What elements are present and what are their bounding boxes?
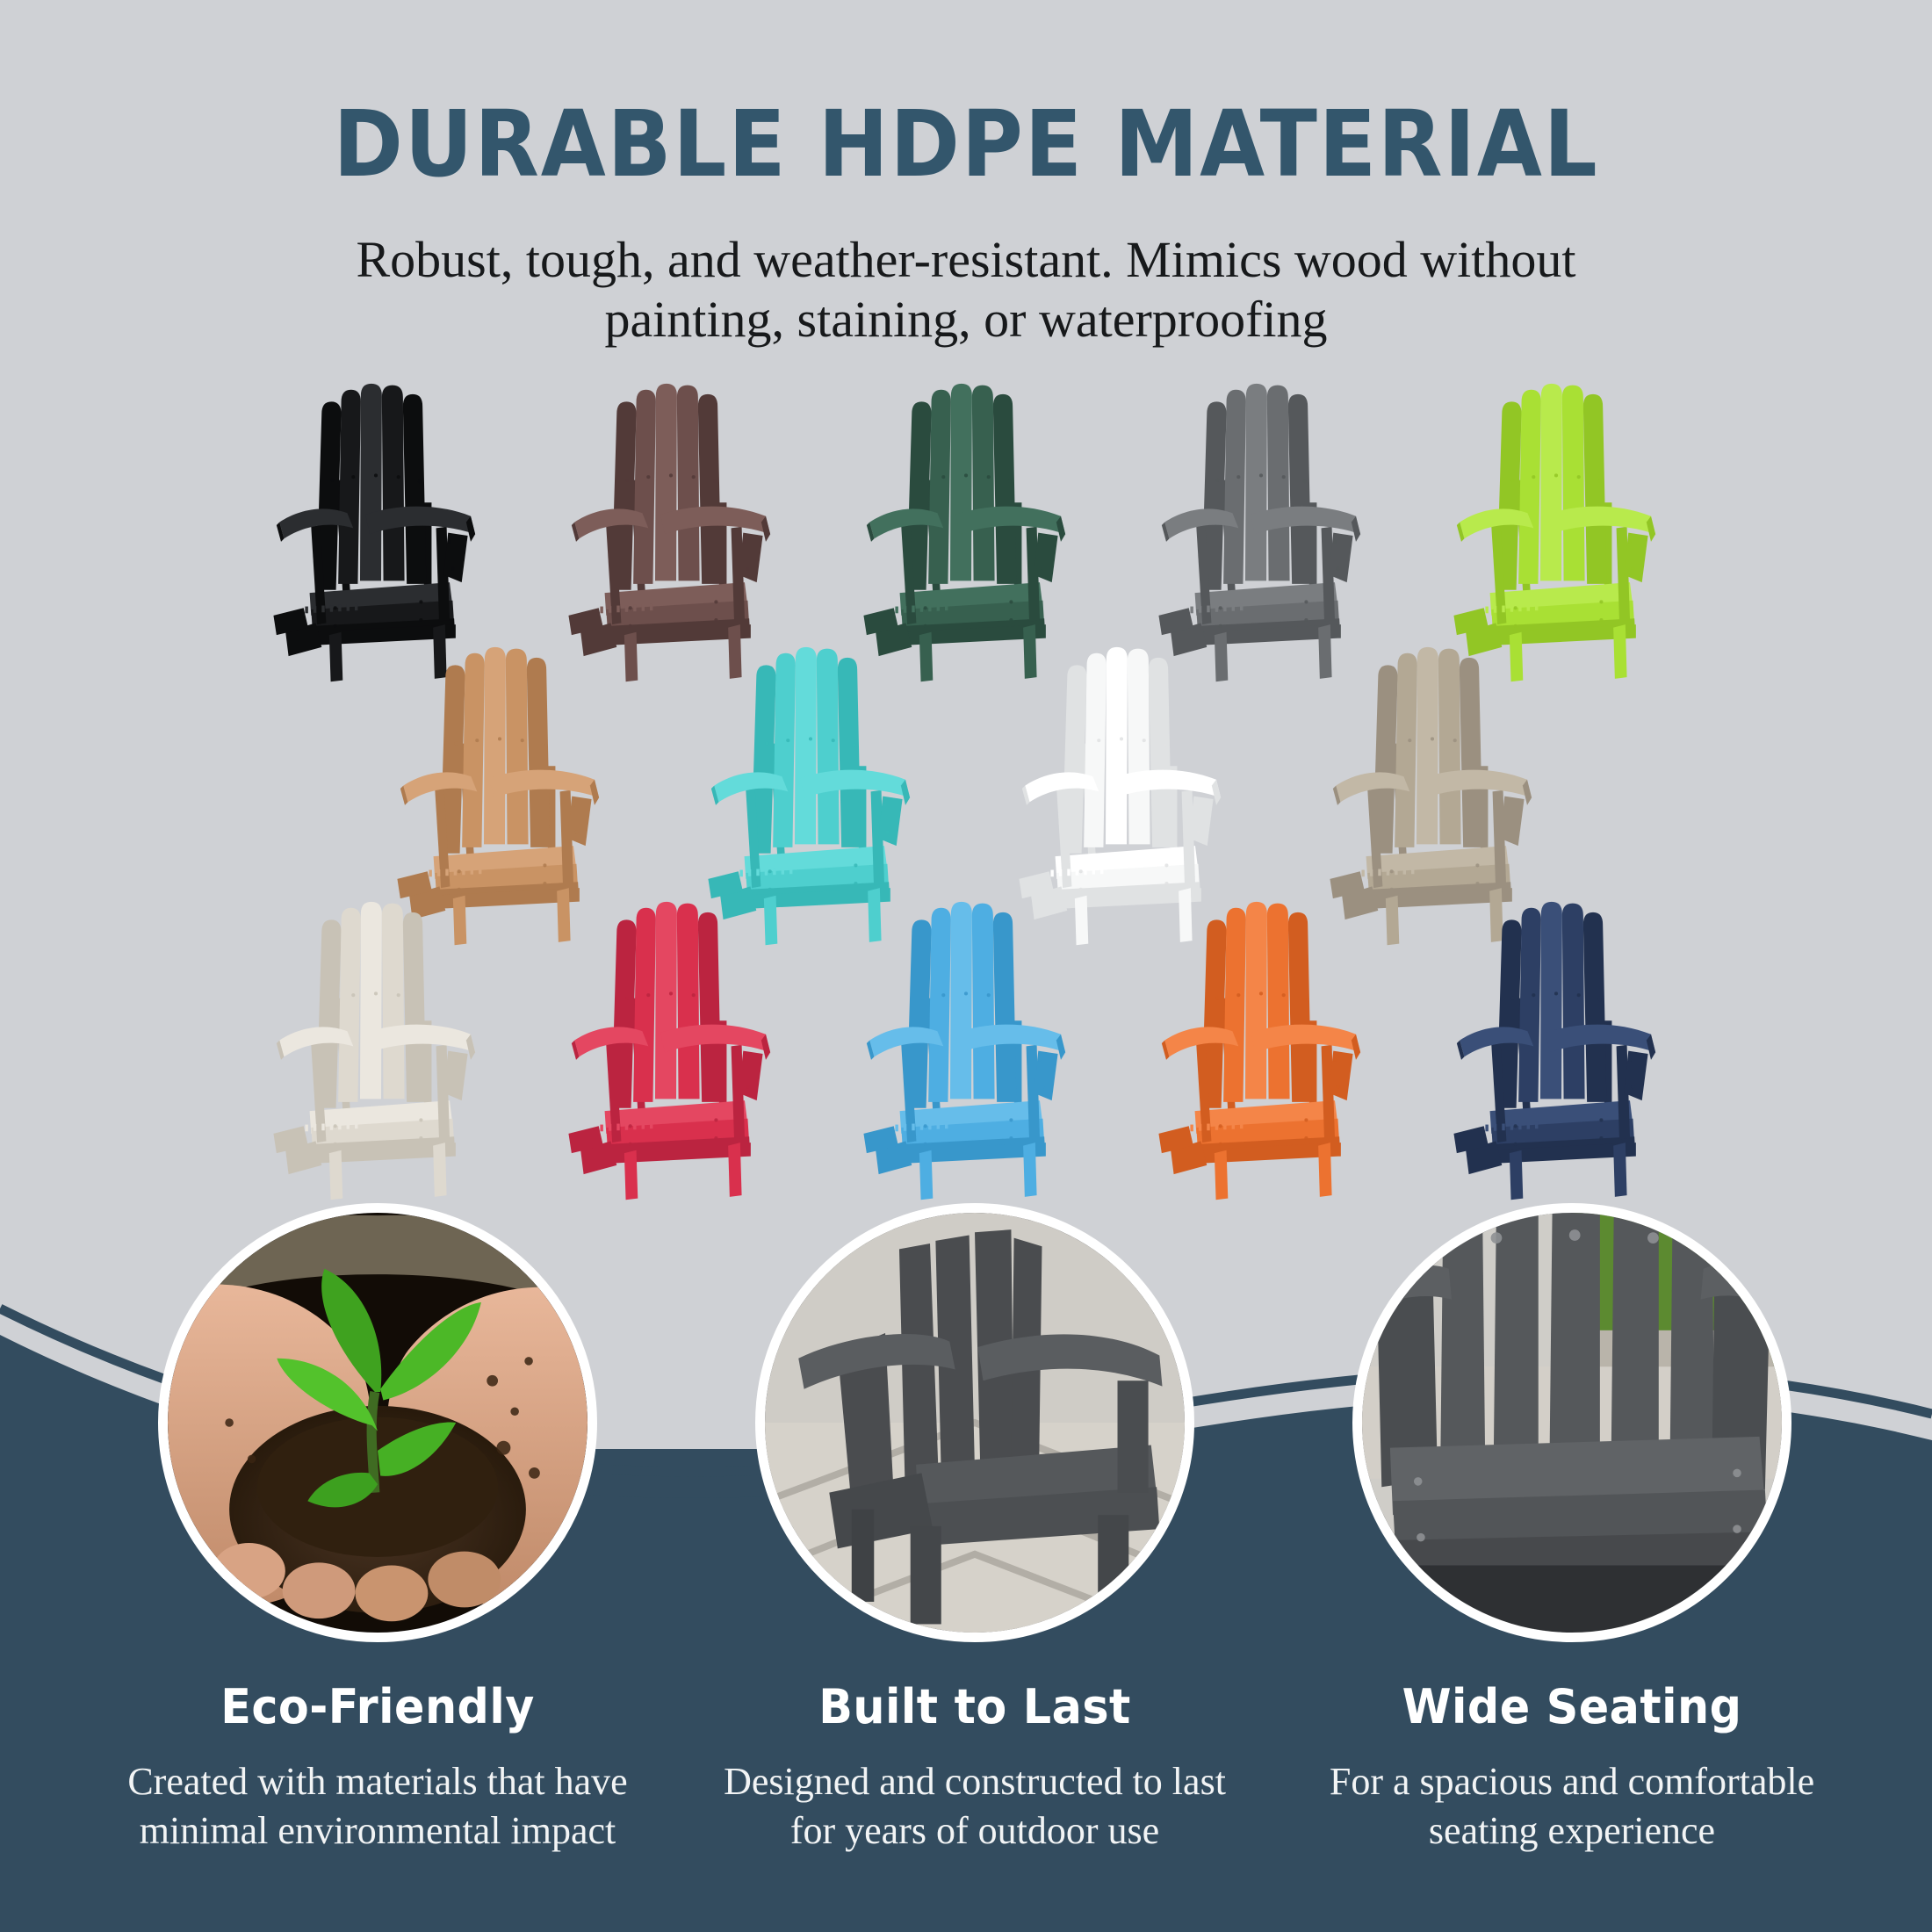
gray-adirondack-chair-on-patio-icon [765, 1213, 1185, 1633]
chair-color-grid [0, 367, 1932, 1245]
seat-closeup-photo-icon [1362, 1213, 1782, 1633]
chair-illustration [853, 885, 1079, 1201]
chair-swatch-orange[interactable] [1148, 885, 1374, 1201]
page-title: DURABLE HDPE MATERIAL [77, 98, 1855, 190]
feature-description: Designed and constructed to last for yea… [703, 1757, 1247, 1856]
chair-swatch-ivory[interactable] [263, 885, 489, 1201]
chair-row-3 [0, 885, 1932, 1201]
chair-illustration [263, 885, 489, 1201]
feature-section: Eco-FriendlyCreated with materials that … [0, 1203, 1932, 1932]
chair-swatch-red[interactable] [558, 885, 784, 1201]
hands-holding-seedling-in-soil-icon [168, 1213, 588, 1633]
feature-card-built-to-last: Built to LastDesigned and constructed to… [694, 1203, 1256, 1856]
feature-description: For a spacious and comfortable seating e… [1300, 1757, 1844, 1856]
chair-illustration [558, 885, 784, 1201]
seedling-photo-icon [168, 1213, 588, 1633]
chair-illustration [1443, 885, 1669, 1201]
feature-title: Wide Seating [1308, 1679, 1836, 1734]
closeup-of-wide-chair-seat-icon [1362, 1213, 1782, 1633]
feature-image-2 [755, 1203, 1194, 1642]
chair-illustration [1148, 885, 1374, 1201]
page-subtitle: Robust, tough, and weather-resistant. Mi… [281, 230, 1651, 350]
feature-image-3 [1352, 1203, 1791, 1642]
feature-image-1 [158, 1203, 597, 1642]
patio-chair-photo-icon [765, 1213, 1185, 1633]
feature-title: Built to Last [710, 1679, 1239, 1734]
feature-card-wide-seating: Wide SeatingFor a spacious and comfortab… [1291, 1203, 1853, 1856]
chair-swatch-light-blue[interactable] [853, 885, 1079, 1201]
header: DURABLE HDPE MATERIAL Robust, tough, and… [0, 0, 1932, 350]
chair-swatch-navy-blue[interactable] [1443, 885, 1669, 1201]
feature-card-eco-friendly: Eco-FriendlyCreated with materials that … [97, 1203, 659, 1856]
feature-description: Created with materials that have minimal… [105, 1757, 650, 1856]
feature-title: Eco-Friendly [113, 1679, 642, 1734]
